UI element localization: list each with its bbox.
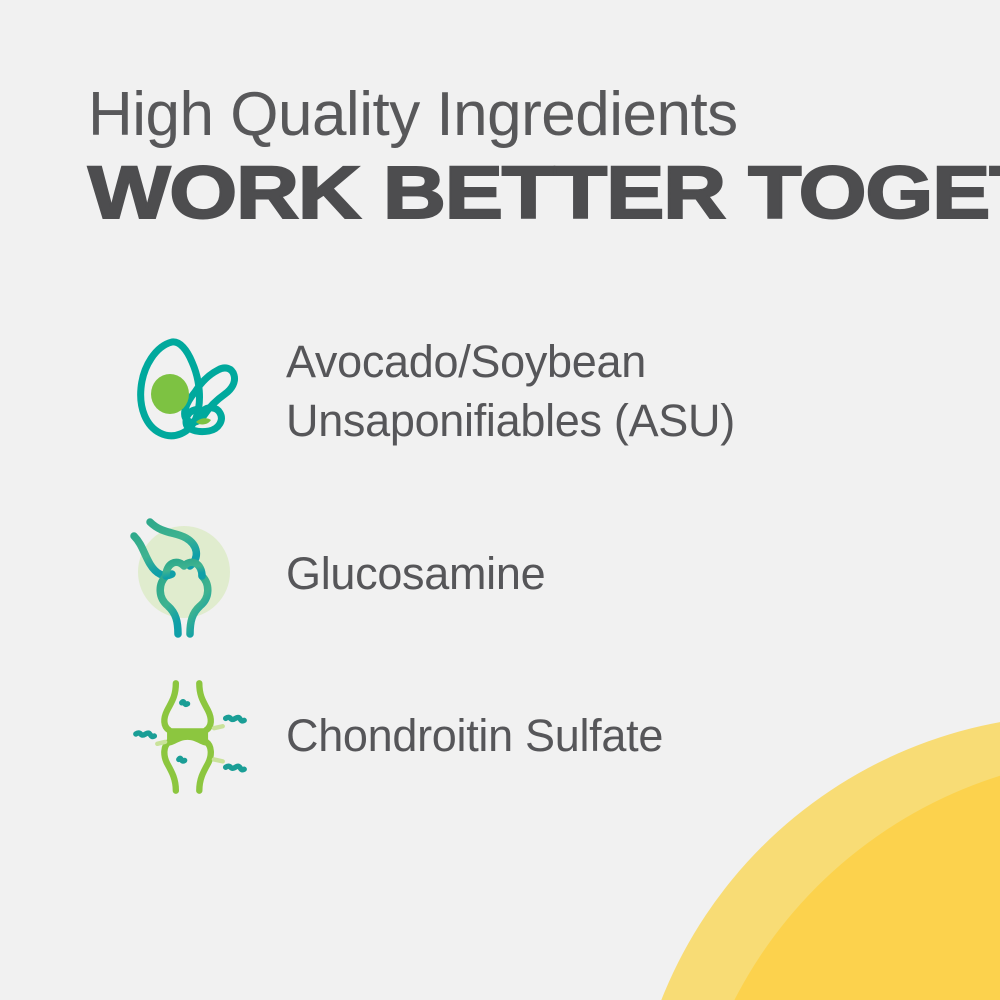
joint-molecules-icon <box>128 676 253 796</box>
heading-line-1: High Quality Ingredients <box>88 82 928 148</box>
molecule-left <box>136 733 155 737</box>
infographic-canvas: High Quality Ingredients WORK BETTER TOG… <box>0 0 1000 1000</box>
ingredient-row: Chondroitin Sulfate <box>0 661 1000 811</box>
molecule-lower-right <box>226 766 245 770</box>
molecule-inner-bottom <box>179 758 185 761</box>
molecule-upper-right <box>226 717 245 721</box>
motion-dash <box>214 759 223 761</box>
heading-line-2: WORK BETTER TOGETHER <box>88 156 1000 230</box>
ingredient-row: Avocado/Soybean Unsaponifiables (ASU) <box>0 296 1000 486</box>
ingredient-row: Glucosamine <box>0 486 1000 661</box>
motion-dash <box>214 726 223 728</box>
ingredient-label: Glucosamine <box>286 544 545 603</box>
cartilage-block <box>167 728 208 746</box>
knee-joint-icon <box>128 510 253 638</box>
molecule-inner-top <box>182 702 188 705</box>
page-title: High Quality Ingredients WORK BETTER TOG… <box>88 82 928 230</box>
avocado-soybean-icon <box>128 332 253 450</box>
ingredient-label: Avocado/Soybean Unsaponifiables (ASU) <box>286 332 886 451</box>
avocado-pit <box>151 374 189 414</box>
ingredient-list: Avocado/Soybean Unsaponifiables (ASU) <box>0 296 1000 811</box>
motion-dash <box>157 742 165 744</box>
ingredient-label: Chondroitin Sulfate <box>286 706 663 765</box>
